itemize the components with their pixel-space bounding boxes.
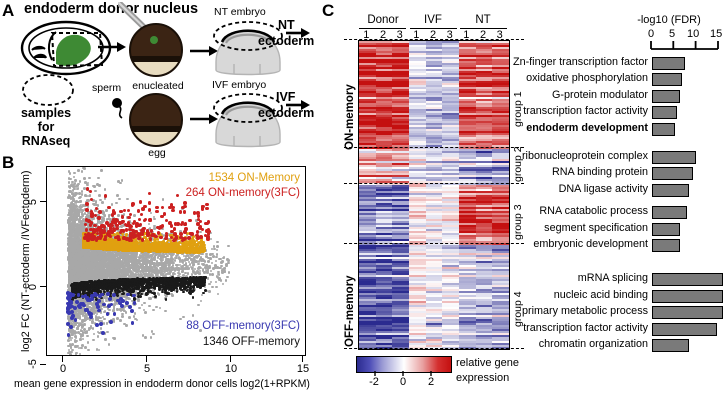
panel-a-title: endoderm donor nucleus <box>24 1 198 17</box>
scatter-point <box>200 300 203 303</box>
scatter-point <box>215 260 218 263</box>
scatter-point <box>176 264 179 267</box>
enucleated-egg-icon <box>128 22 186 80</box>
scatter-point <box>225 279 228 282</box>
panel-b: B 5 0 -5 0 5 10 15 mean gene expression … <box>0 152 320 408</box>
scatter-point <box>204 260 207 263</box>
scatter-point <box>79 200 82 203</box>
samples-label-line1: samples <box>2 106 90 120</box>
scatter-point <box>184 258 187 261</box>
scatter-point <box>211 286 214 289</box>
scatter-point <box>211 248 214 251</box>
scatter-point <box>197 263 200 266</box>
panel-a: A endoderm donor nucleus enucleated egg <box>0 0 320 160</box>
scatter-point <box>215 281 218 284</box>
nt-ectoderm-label-line1: NT <box>278 18 295 32</box>
scatter-point <box>143 302 146 305</box>
scatter-point <box>138 307 141 310</box>
samples-label-line2: for <box>2 120 90 134</box>
scatter-point <box>93 333 96 336</box>
scatter-point <box>224 267 227 270</box>
scatter-point <box>121 315 124 318</box>
scatter-point <box>141 304 144 307</box>
nt-ectoderm-label-line2: ectoderm <box>258 34 314 48</box>
scatter-point <box>111 203 114 206</box>
scatter-point <box>221 271 224 274</box>
scatter-point <box>125 311 128 314</box>
scatter-point <box>207 277 210 280</box>
scatter-point <box>98 349 101 352</box>
scatter-point <box>205 253 208 256</box>
ivf-ectoderm-label-line1: IVF <box>276 90 295 104</box>
scatter-point <box>208 283 211 286</box>
scatter-point <box>210 238 213 241</box>
scatter-point <box>121 313 124 316</box>
scatter-point <box>208 266 211 269</box>
scatter-point <box>215 286 218 289</box>
scatter-point <box>212 255 215 258</box>
scatter-point <box>172 272 175 275</box>
scatter-point <box>150 212 153 215</box>
scatter-point <box>117 214 120 217</box>
scatter-point <box>228 271 231 274</box>
panel-b-letter: B <box>2 154 14 171</box>
ivf-embryo-icon <box>210 90 286 152</box>
scatter-point <box>216 249 219 252</box>
scatter-point <box>213 245 216 248</box>
samples-dashed-circle-icon <box>20 72 76 108</box>
scatter-point <box>155 306 158 309</box>
arrow-icon <box>98 40 126 54</box>
scatter-point <box>226 258 229 261</box>
scatter-point <box>167 267 170 270</box>
scatter-point <box>198 254 201 257</box>
panel-a-letter: A <box>2 2 14 19</box>
scatter-point <box>101 201 104 204</box>
nt-embryo-icon <box>210 18 286 80</box>
scatter-point <box>167 264 170 267</box>
scatter-point <box>193 263 196 266</box>
scatter-point <box>181 271 184 274</box>
scatter-point <box>159 307 162 310</box>
nt-embryo-label: NT embryo <box>214 6 266 18</box>
scatter-point <box>227 245 230 248</box>
scatter-point <box>137 300 140 303</box>
ivf-ectoderm-label-line2: ectoderm <box>258 106 314 120</box>
samples-label-line3: RNAseq <box>2 134 90 148</box>
scatter-point <box>103 311 106 314</box>
scatter-point <box>220 261 223 264</box>
sperm-label: sperm <box>92 82 121 94</box>
scatter-point <box>226 276 229 279</box>
scatter-point <box>196 270 199 273</box>
egg-icon <box>128 92 186 150</box>
scatter-point <box>194 272 197 275</box>
scatter-point <box>148 305 151 308</box>
scatter-point <box>149 297 152 300</box>
scatter-point <box>199 272 202 275</box>
